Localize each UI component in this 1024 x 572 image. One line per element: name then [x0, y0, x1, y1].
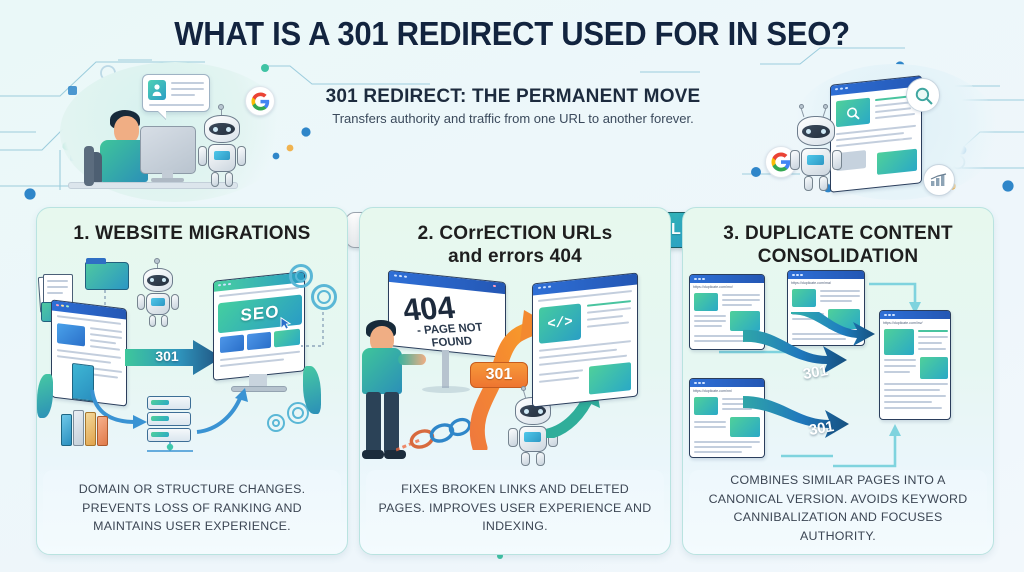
cursor-icon [280, 316, 292, 331]
google-logo-icon [245, 86, 275, 116]
content-block-2 [247, 332, 271, 351]
gear-dashed-connector [299, 312, 325, 352]
window-titlebar [788, 271, 864, 279]
duplicate-url-1: https://duplicate.com/mv/ [690, 283, 764, 289]
avatar-person-icon [152, 83, 162, 97]
panels-row: 1. WEBSITE MIGRATIONS [0, 207, 1024, 559]
panel-2-title: 2. COrrECTION URLs and errors 404 [368, 222, 662, 268]
panel-3-title-line-1: 3. DUPLICATE CONTENT [691, 222, 985, 245]
panel-2-title-line-2: and errors 404 [368, 245, 662, 268]
folder-icon [85, 262, 129, 290]
plant-left-icon [37, 374, 53, 418]
chart-glyph [930, 173, 948, 187]
search-glyph [914, 86, 933, 105]
google-g-glyph [251, 92, 270, 111]
content-block-1 [220, 335, 244, 354]
gear-icon-3 [267, 414, 285, 432]
content-block-3 [274, 329, 300, 348]
panel-3-caption: COMBINES SIMILAR PAGES INTO A CANONICAL … [689, 470, 987, 546]
migration-301-label: 301 [145, 348, 189, 364]
result-thumb-2 [877, 149, 917, 175]
correction-301-text: 301 [486, 366, 513, 384]
panel-1-illustration: 301 SEO [37, 262, 347, 484]
content-thumb [589, 362, 631, 394]
panel-website-migrations[interactable]: 1. WEBSITE MIGRATIONS [36, 207, 348, 555]
code-symbol: </> [547, 314, 572, 333]
plant-right-icon [303, 366, 321, 414]
panel-3-title-line-2: CONSOLIDATION [691, 245, 985, 268]
desk-chair [84, 146, 94, 186]
old-hero-block [57, 323, 85, 346]
panel-correction-urls[interactable]: 2. COrrECTION URLs and errors 404 404 - … [359, 207, 671, 555]
panel-1-caption: DOMAIN OR STRUCTURE CHANGES. PREVENTS LO… [43, 470, 341, 546]
robot-panel1 [137, 262, 179, 328]
header-subheading: Transfers authority and traffic from one… [283, 111, 743, 126]
panel-2-caption: FIXES BROKEN LINKS AND DELETED PAGES. IM… [366, 470, 664, 546]
fixed-page-window: </> [532, 272, 638, 407]
panel-duplicate-content[interactable]: 3. DUPLICATE CONTENT CONSOLIDATION [682, 207, 994, 555]
infographic-canvas: WHAT IS A 301 REDIRECT USED FOR IN SEO? [0, 0, 1024, 572]
duplicate-url-2: https://duplicate.com/ma/ [788, 279, 864, 285]
panel-1-title: 1. WEBSITE MIGRATIONS [45, 222, 339, 245]
server-to-new-arrow [195, 388, 251, 436]
panel-3-illustration: https://duplicate.com/mv/ https://duplic… [683, 270, 993, 484]
magnifier-icon [846, 106, 860, 121]
panel-2-illustration: 404 - PAGE NOT FOUND [360, 274, 670, 484]
google-g-glyph-right [771, 152, 791, 172]
robot-left [196, 108, 248, 188]
header-band: 301 REDIRECT: THE PERMANENT MOVE Transfe… [0, 60, 1024, 205]
code-block: </> [539, 303, 581, 343]
chat-bubble [142, 74, 210, 112]
header-text-block: 301 REDIRECT: THE PERMANENT MOVE Transfe… [283, 86, 743, 126]
window-titlebar [690, 275, 764, 283]
panel-2-title-line-1: 2. COrrECTION URLs [368, 222, 662, 245]
search-badge-icon [906, 78, 940, 112]
gear-icon-2 [311, 284, 337, 310]
header-heading: 301 REDIRECT: THE PERMANENT MOVE [283, 86, 743, 108]
migration-301-arrow: 301 [125, 340, 223, 376]
analytics-badge-icon [923, 164, 955, 196]
correction-301-label: 301 [470, 362, 528, 388]
panel-3-title: 3. DUPLICATE CONTENT CONSOLIDATION [691, 222, 985, 268]
seo-label: SEO [241, 302, 280, 326]
robot-right [790, 108, 844, 192]
gear-icon-1 [289, 264, 313, 288]
page-title: WHAT IS A 301 REDIRECT USED FOR IN SEO? [31, 16, 994, 52]
